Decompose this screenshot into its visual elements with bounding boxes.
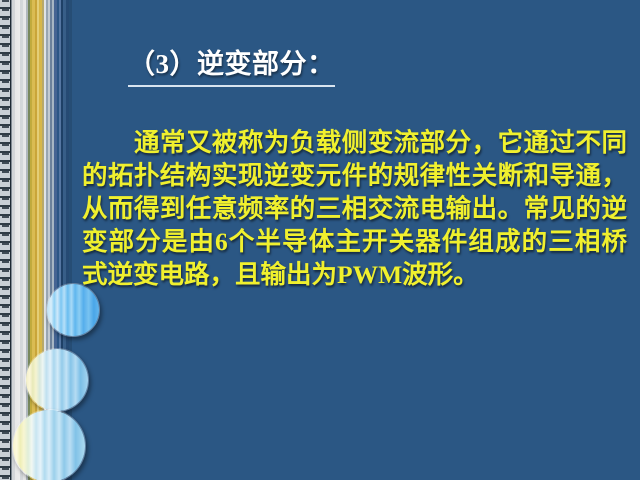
slide-body-paragraph: 通常又被称为负载侧变流部分，它通过不同的拓扑结构实现逆变元件的规律性关断和导通，… [82, 126, 627, 291]
slide-title: （3）逆变部分： [128, 49, 335, 87]
slide-content-area: （3）逆变部分： 通常又被称为负载侧变流部分，它通过不同的拓扑结构实现逆变元件的… [72, 0, 640, 480]
presentation-slide: （3）逆变部分： 通常又被称为负载侧变流部分，它通过不同的拓扑结构实现逆变元件的… [0, 0, 640, 480]
slide-body-container: 通常又被称为负载侧变流部分，它通过不同的拓扑结构实现逆变元件的规律性关断和导通，… [82, 126, 627, 291]
slide-title-container: （3）逆变部分： [128, 49, 358, 87]
film-perforation-strip-icon [0, 0, 11, 480]
